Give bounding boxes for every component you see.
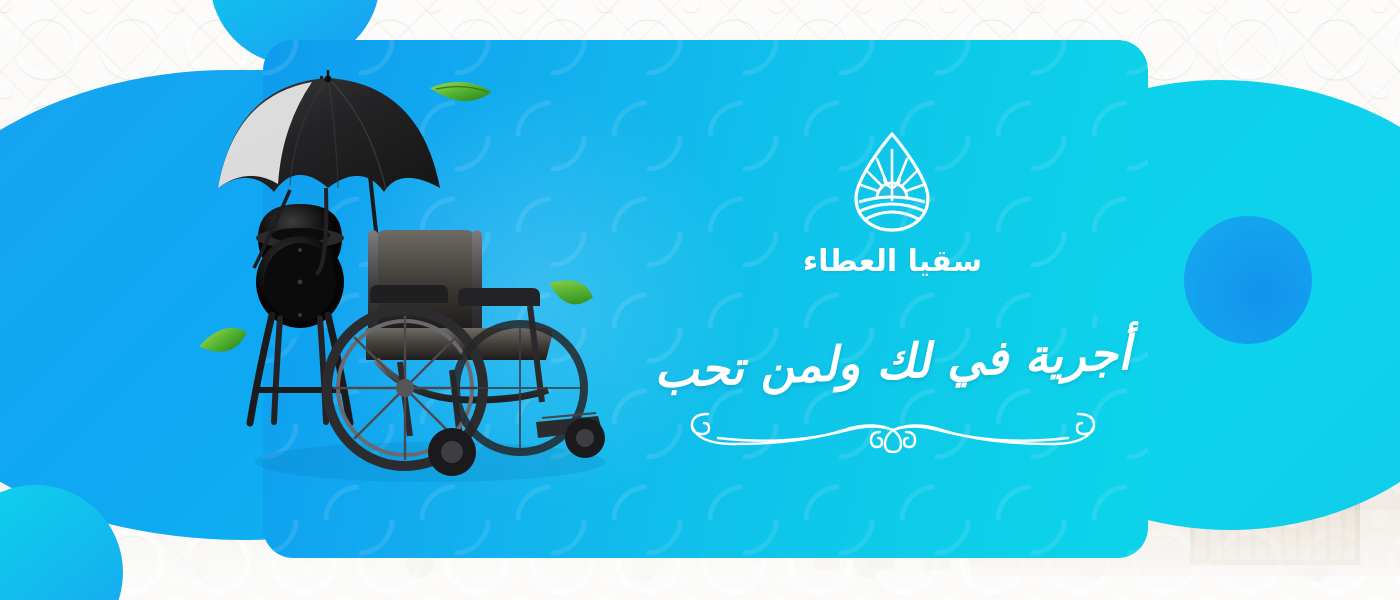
product-illustration <box>200 70 640 490</box>
green-leaf-icon <box>200 324 250 356</box>
water-drop-sunrise-field-icon <box>849 130 935 234</box>
brand-logo: سقيا العطاء <box>803 130 982 279</box>
banner-content: سقيا العطاء أجرية في لك ولمن تحب <box>640 42 1145 542</box>
product-photo-group <box>200 70 640 490</box>
promo-banner: سقيا العطاء أجرية في لك ولمن تحب <box>0 0 1400 600</box>
folding-stool-icon <box>250 204 350 423</box>
green-leaf-icon <box>430 82 492 101</box>
circle-right-accent <box>1184 216 1312 344</box>
wheelchair-icon <box>327 230 605 476</box>
tagline-text: أجرية في لك ولمن تحب <box>653 326 1132 399</box>
flourish-divider-icon <box>678 402 1108 454</box>
green-leaf-icon <box>545 274 596 310</box>
brand-name: سقيا العطاء <box>803 244 982 279</box>
